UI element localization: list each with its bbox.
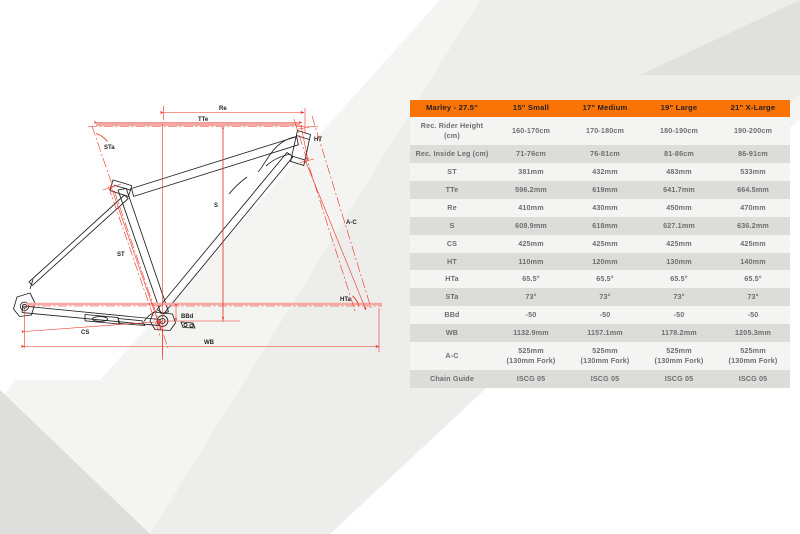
spec-row-label: Re <box>410 199 494 217</box>
dimension-lines <box>25 106 383 360</box>
spec-table-row: Chain GuideISCG 05ISCG 05ISCG 05ISCG 05 <box>410 370 790 388</box>
frame-diagram-panel: STa Re TTe HT A-C S ST HTa BBd CS WB <box>0 0 400 534</box>
spec-row-label: TTe <box>410 181 494 199</box>
spec-row-label: Rec. Rider Height(cm) <box>410 117 494 145</box>
spec-row-label: Chain Guide <box>410 370 494 388</box>
down-tube <box>157 153 293 315</box>
spec-cell: 1205.3mm <box>716 324 790 342</box>
spec-cell: 525mm(130mm Fork) <box>494 342 568 370</box>
spec-cell: 1157.1mm <box>568 324 642 342</box>
spec-table-row: Rec. Inside Leg (cm)71-76cm76-81cm81-86c… <box>410 145 790 163</box>
spec-cell: ISCG 05 <box>642 370 716 388</box>
ac-axis <box>294 119 355 311</box>
label-STa: STa <box>104 145 115 151</box>
header-size-large: 19" Large <box>642 100 716 117</box>
label-BBd: BBd <box>181 314 194 320</box>
spec-cell: 110mm <box>494 253 568 271</box>
label-Re: Re <box>219 106 227 112</box>
spec-cell: 1132.9mm <box>494 324 568 342</box>
spec-row-label: ST <box>410 163 494 181</box>
spec-cell: 619mm <box>568 181 642 199</box>
header-model: Marley - 27.5" <box>410 100 494 117</box>
angle-STa <box>96 134 107 142</box>
bike-frame-drawing: STa Re TTe HT A-C S ST HTa BBd CS WB <box>0 0 400 400</box>
spec-cell: 430mm <box>568 199 642 217</box>
spec-header-row: Marley - 27.5" 15" Small 17" Medium 19" … <box>410 100 790 117</box>
label-HT: HT <box>314 137 322 143</box>
spec-cell: 81-86cm <box>642 145 716 163</box>
spec-cell: ISCG 05 <box>716 370 790 388</box>
spec-cell: 65.5° <box>568 270 642 288</box>
spec-row-label: WB <box>410 324 494 342</box>
spec-cell: 450mm <box>642 199 716 217</box>
spec-row-label: HTa <box>410 270 494 288</box>
spec-cell: -50 <box>716 306 790 324</box>
label-HTa: HTa <box>340 297 352 303</box>
dim-CS <box>25 322 163 332</box>
spec-cell: 425mm <box>642 235 716 253</box>
top-tube <box>132 137 299 197</box>
spec-cell: 73° <box>568 288 642 306</box>
spec-table-body: Rec. Rider Height(cm)160-170cm170-180cm1… <box>410 117 790 388</box>
ht-axis <box>312 116 371 308</box>
spec-table-head: Marley - 27.5" 15" Small 17" Medium 19" … <box>410 100 790 117</box>
st-axis <box>92 126 168 348</box>
spec-row-label: S <box>410 217 494 235</box>
spec-cell: 1178.2mm <box>642 324 716 342</box>
spec-cell: 65.5° <box>716 270 790 288</box>
spec-table-container: Marley - 27.5" 15" Small 17" Medium 19" … <box>410 100 790 388</box>
header-size-xlarge: 21" X-Large <box>716 100 790 117</box>
spec-cell: 180-190cm <box>642 117 716 145</box>
spec-cell: -50 <box>642 306 716 324</box>
spec-cell: 596.2mm <box>494 181 568 199</box>
spec-cell: 425mm <box>568 235 642 253</box>
label-WB: WB <box>204 340 215 346</box>
spec-cell: 618mm <box>568 217 642 235</box>
spec-cell: 65.5° <box>642 270 716 288</box>
spec-cell: -50 <box>568 306 642 324</box>
spec-cell: 533mm <box>716 163 790 181</box>
spec-cell: 627.1mm <box>642 217 716 235</box>
frame-geometry-spec-table: Marley - 27.5" 15" Small 17" Medium 19" … <box>410 100 790 388</box>
spec-table-row: Re410mm430mm450mm470mm <box>410 199 790 217</box>
geometry-page: STa Re TTe HT A-C S ST HTa BBd CS WB Mar… <box>0 0 800 534</box>
spec-table-row: ST381mm432mm483mm533mm <box>410 163 790 181</box>
spec-table-row: WB1132.9mm1157.1mm1178.2mm1205.3mm <box>410 324 790 342</box>
spec-cell: 608.9mm <box>494 217 568 235</box>
spec-table-row: A-C525mm(130mm Fork)525mm(130mm Fork)525… <box>410 342 790 370</box>
spec-cell: 525mm(130mm Fork) <box>642 342 716 370</box>
spec-table-row: CS425mm425mm425mm425mm <box>410 235 790 253</box>
spec-row-label: Rec. Inside Leg (cm) <box>410 145 494 163</box>
dim-ST <box>109 187 161 338</box>
spec-cell: 470mm <box>716 199 790 217</box>
spec-row-label: STa <box>410 288 494 306</box>
spec-cell: 170-180cm <box>568 117 642 145</box>
dim-ST-arrow <box>112 188 162 330</box>
spec-row-label: A-C <box>410 342 494 370</box>
spec-cell: 120mm <box>568 253 642 271</box>
spec-table-row: S608.9mm618mm627.1mm636.2mm <box>410 217 790 235</box>
spec-cell: 525mm(130mm Fork) <box>716 342 790 370</box>
spec-table-row: HTa65.5°65.5°65.5°65.5° <box>410 270 790 288</box>
spec-cell: 86-91cm <box>716 145 790 163</box>
spec-table-row: HT110mm120mm130mm140mm <box>410 253 790 271</box>
spec-table-row: STa73°73°73°73° <box>410 288 790 306</box>
spec-table-row: Rec. Rider Height(cm)160-170cm170-180cm1… <box>410 117 790 145</box>
spec-cell: 636.2mm <box>716 217 790 235</box>
downtube-detail <box>229 177 247 194</box>
label-AC: A-C <box>346 220 357 226</box>
head-tube <box>291 131 311 166</box>
spec-cell: 525mm(130mm Fork) <box>568 342 642 370</box>
label-TTe: TTe <box>198 117 209 123</box>
header-size-medium: 17" Medium <box>568 100 642 117</box>
chainstay-hole <box>93 317 108 322</box>
spec-cell: 140mm <box>716 253 790 271</box>
header-size-small: 15" Small <box>494 100 568 117</box>
tt-ht-gusset <box>258 137 297 172</box>
spec-cell: ISCG 05 <box>494 370 568 388</box>
chain-stay <box>22 306 160 326</box>
spec-row-label: BBd <box>410 306 494 324</box>
seat-tube <box>118 188 169 313</box>
spec-cell: 76-81cm <box>568 145 642 163</box>
spec-table-row: TTe596.2mm619mm641.7mm664.5mm <box>410 181 790 199</box>
spec-cell: 73° <box>642 288 716 306</box>
spec-cell: 432mm <box>568 163 642 181</box>
spec-cell: 65.5° <box>494 270 568 288</box>
label-S: S <box>214 203 218 209</box>
spec-table-row: BBd-50-50-50-50 <box>410 306 790 324</box>
label-ST: ST <box>117 252 125 258</box>
frame-tubes <box>14 131 311 331</box>
seat-stay <box>29 195 128 285</box>
spec-cell: ISCG 05 <box>568 370 642 388</box>
spec-cell: 73° <box>716 288 790 306</box>
spec-cell: 425mm <box>494 235 568 253</box>
spec-cell: 190-200cm <box>716 117 790 145</box>
spec-cell: 71-76cm <box>494 145 568 163</box>
spec-cell: 483mm <box>642 163 716 181</box>
spec-cell: -50 <box>494 306 568 324</box>
dim-AC <box>307 164 367 311</box>
spec-cell: 664.5mm <box>716 181 790 199</box>
diagram-labels: STa Re TTe HT A-C S ST HTa BBd CS WB <box>81 106 357 346</box>
spec-cell: 425mm <box>716 235 790 253</box>
spec-cell: 410mm <box>494 199 568 217</box>
spec-row-label: HT <box>410 253 494 271</box>
spec-row-label: CS <box>410 235 494 253</box>
spec-cell: 160-170cm <box>494 117 568 145</box>
label-CS: CS <box>81 330 89 336</box>
spec-cell: 130mm <box>642 253 716 271</box>
spec-cell: 381mm <box>494 163 568 181</box>
spec-cell: 641.7mm <box>642 181 716 199</box>
spec-cell: 73° <box>494 288 568 306</box>
